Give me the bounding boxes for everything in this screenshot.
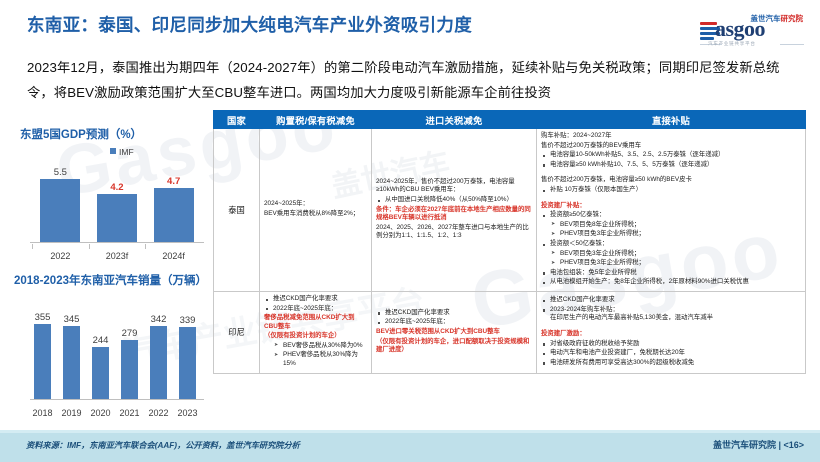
indonesia-subsidy-p1: 在印尼生产的电动汽车最高补贴5,130美金，混动汽车减半 [550, 314, 713, 321]
bar-2022 [40, 179, 80, 242]
cell-indonesia-subsidy: 推迟CKD国产化率要求 2023-2024年购车补贴： 在印尼生产的电动汽车最高… [537, 291, 806, 373]
cell-thailand-purchase-tax: 2024~2025年： BEV乘用车消费税从8%降至2%； [260, 129, 372, 292]
indonesia-tariff-red1: BEV进口零关税范围从CKD扩大到CBU整车 [376, 328, 532, 337]
thailand-subsidy-b6: 电池包组装：免5年企业所得税 [541, 269, 801, 278]
bar-value-label-2022: 5.5 [32, 167, 89, 178]
sales-bar-chart: 3552018345201924420202792021342202233920… [18, 292, 208, 422]
bar-value-label-2019: 345 [57, 314, 86, 325]
thailand-tariff-p2: 2024、2025、2026、2027年整车进口与本地生产的比例分别为1:1、1… [376, 224, 532, 241]
x-tick-1 [89, 244, 90, 249]
cell-indonesia-purchase-tax: 推迟CKD国产化率要求 2022年底~2025年底： 奢侈品税减免范围从CKD扩… [260, 291, 372, 373]
thailand-subsidy-b1: 电池容量10-50kWh补贴5、3.5、2.5、2.5万泰铢（逐年递减） [541, 151, 801, 160]
thailand-subsidy-a4: PHEV项目免3年企业所得税； [551, 259, 801, 268]
bar-2018 [34, 324, 51, 399]
footer-bar: 资料来源：IMF，东南亚汽车联合会(AAF)，公开资料，盖世汽车研究院分析 盖世… [0, 430, 820, 462]
thailand-subsidy-a1: BEV项目免8年企业所得税； [551, 221, 801, 230]
x-tick-label-2023: 2023 [173, 408, 202, 418]
page-title: 东南亚：泰国、印尼同步加大纯电汽车产业外资吸引力度 [27, 12, 472, 37]
indonesia-subsidy-b3: 对省级政府征收的税收给予奖励 [541, 340, 801, 349]
cell-thailand-import-tariff: 2024~2025年，售价不超过200万泰铢，电池容量≥10kWh的CBU BE… [372, 129, 537, 292]
logo-chinese-red: 研究院 [781, 14, 804, 23]
thailand-tariff-b1: 从中国进口关税降低40%（从50%降至10%） [376, 196, 532, 205]
source-note: 资料来源：IMF，东南亚汽车联合会(AAF)，公开资料，盖世汽车研究院分析 [26, 439, 300, 451]
x-tick-label-2023f: 2023f [89, 251, 146, 261]
bar-value-label-2023: 339 [173, 315, 202, 326]
thailand-subsidy-b2: 电池容量≥50 kWh补贴10、7.5、5、5万泰铢（逐年递减） [541, 161, 801, 170]
logo-tagline: 汽车产业链共享平台 [708, 41, 756, 47]
gdp-chart-legend: IMF [110, 147, 134, 157]
bar-value-label-2021: 279 [115, 328, 144, 339]
indonesia-subsidy-b2-label: 2023-2024年购车补贴： [550, 306, 619, 313]
bar-2024f [154, 188, 194, 242]
bar-2021 [121, 340, 138, 399]
bar-value-label-2018: 355 [28, 312, 57, 323]
thailand-subsidy-b5: 投资额＜50亿泰铢： [541, 240, 801, 249]
indonesia-subsidy-b1: 推迟CKD国产化率要求 [541, 296, 801, 305]
x-tick-label-2024f: 2024f [145, 251, 202, 261]
thailand-subsidy-b3: 补贴 10万泰铢（仅限本国生产） [541, 186, 801, 195]
col-header-country: 国家 [214, 111, 260, 129]
x-tick-2 [145, 244, 146, 249]
sales-x-axis [30, 399, 204, 400]
col-header-import-tariff: 进口关税减免 [372, 111, 537, 129]
thailand-subsidy-p2: 售价不超过200万泰铢，电池容量≥50 kWh的BEV皮卡 [541, 176, 801, 185]
legend-swatch-icon [110, 148, 116, 154]
indonesia-subsidy-b2: 2023-2024年购车补贴： 在印尼生产的电动汽车最高补贴5,130美金，混动… [541, 306, 801, 323]
x-tick-label-2022: 2022 [144, 408, 173, 418]
bar-2020 [92, 347, 109, 399]
x-tick-label-2018: 2018 [28, 408, 57, 418]
cell-indonesia-import-tariff: 推迟CKD国产化率要求 2022年底~2025年底： BEV进口零关税范围从CK… [372, 291, 537, 373]
x-tick-0 [32, 244, 33, 249]
lede-paragraph: 2023年12月，泰国推出为期四年（2024-2027年）的第二阶段电动汽车激励… [27, 55, 797, 105]
thailand-tariff-condition: 条件：车企必须在2027年底前在本地生产相应数量的同规格BEV车辆以进行抵消 [376, 206, 532, 223]
legend-label-imf: IMF [119, 147, 134, 157]
table-row: 印尼 推迟CKD国产化率要求 2022年底~2025年底： 奢侈品税减免范围从C… [214, 291, 806, 373]
footer-brand: 盖世汽车研究院 | <16> [713, 438, 804, 451]
indonesia-tax-red2: （仅限有投资计划的车企） [264, 332, 367, 341]
indonesia-subsidy-t1: 投资建厂激励： [541, 330, 801, 339]
bar-2022 [150, 326, 167, 399]
thailand-subsidy-b4: 投资额≥50亿泰铢： [541, 211, 801, 220]
gdp-chart-title: 东盟5国GDP预测（%） [20, 126, 142, 142]
thailand-tax-line2: BEV乘用车消费税从8%降至2%； [264, 210, 367, 219]
x-tick-label-2020: 2020 [86, 408, 115, 418]
table-row: 泰国 2024~2025年： BEV乘用车消费税从8%降至2%； 2024~20… [214, 129, 806, 292]
thailand-tariff-p1: 2024~2025年，售价不超过200万泰铢，电池容量≥10kWh的CBU BE… [376, 178, 532, 195]
indonesia-tax-a1: BEV奢侈品税从30%降为0% [274, 342, 367, 351]
bar-value-label-2022: 342 [144, 314, 173, 325]
thailand-subsidy-p1: 售价不超过200万泰铢的BEV乘用车 [541, 142, 801, 151]
indonesia-tax-b2: 2022年底~2025年底： [264, 305, 367, 314]
gasgoo-logo: asgoo 盖世汽车研究院 汽车产业链共享平台 [700, 10, 804, 50]
policy-table: 国家 购置税/保有税减免 进口关税减免 直接补贴 泰国 2024~2025年： … [213, 110, 806, 374]
thailand-tax-line1: 2024~2025年： [264, 200, 367, 209]
logo-chinese-blue: 盖世汽车 [751, 14, 781, 23]
cell-country-indonesia: 印尼 [214, 291, 260, 373]
col-header-purchase-tax: 购置税/保有税减免 [260, 111, 372, 129]
cell-thailand-subsidy: 购车补贴：2024~2027年 售价不超过200万泰铢的BEV乘用车 电池容量1… [537, 129, 806, 292]
indonesia-tariff-b1: 推迟CKD国产化率要求 [376, 309, 532, 318]
bar-2023f [97, 194, 137, 242]
col-header-direct-subsidy: 直接补贴 [537, 111, 806, 129]
bar-2019 [63, 326, 80, 399]
thailand-subsidy-t2: 投资建厂补贴： [541, 202, 801, 211]
thailand-subsidy-b7: 从电池模组开始生产：免8年企业所得税，2年原材料90%进口关税优惠 [541, 278, 801, 287]
bar-value-label-2020: 244 [86, 335, 115, 346]
indonesia-tariff-red2: （仅限有投资计划的车企，进口配额取决于投资规模和建厂进度） [376, 338, 532, 355]
indonesia-tax-red1: 奢侈品税减免范围从CKD扩大到CBU整车 [264, 314, 367, 331]
thailand-subsidy-a2: PHEV项目免3年企业所得税； [551, 230, 801, 239]
cell-country-thailand: 泰国 [214, 129, 260, 292]
bar-value-label-2024f: 4.7 [145, 176, 202, 187]
indonesia-subsidy-b5: 电池研发所有费用可享受高达300%的超级税收减免 [541, 359, 801, 368]
logo-chinese-text: 盖世汽车研究院 [751, 13, 804, 24]
sales-chart-title: 2018-2023年东南亚汽车销量（万辆） [14, 272, 207, 288]
x-tick-label-2022: 2022 [32, 251, 89, 261]
x-tick-label-2021: 2021 [115, 408, 144, 418]
bar-value-label-2023f: 4.2 [89, 182, 146, 193]
thailand-subsidy-a3: BEV项目免3年企业所得税； [551, 250, 801, 259]
gdp-bar-chart: IMF 5.520224.22023f4.72024f [18, 145, 208, 265]
indonesia-tax-a2: PHEV奢侈品税从30%降为15% [274, 351, 367, 368]
indonesia-subsidy-b4: 电动汽车和电池产业投资建厂，免税期长达20年 [541, 349, 801, 358]
indonesia-tariff-b2: 2022年底~2025年底： [376, 318, 532, 327]
gdp-x-axis [30, 242, 204, 243]
slide-canvas: Gasgoo Gasgoo 汽车产业链共享平台 盖世汽车 东南亚：泰国、印尼同步… [0, 0, 820, 462]
table-header-row: 国家 购置税/保有税减免 进口关税减免 直接补贴 [214, 111, 806, 129]
x-tick-label-2019: 2019 [57, 408, 86, 418]
bar-2023 [179, 327, 196, 399]
indonesia-tax-b1: 推迟CKD国产化率要求 [264, 295, 367, 304]
thailand-subsidy-t1: 购车补贴：2024~2027年 [541, 132, 801, 141]
